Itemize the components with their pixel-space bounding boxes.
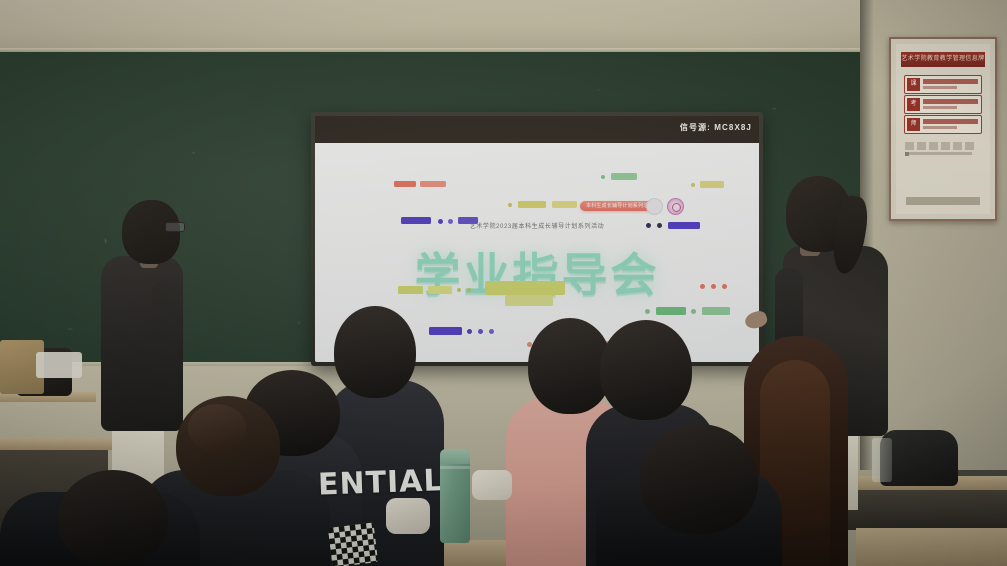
decor-dot-coral: [700, 284, 705, 289]
poster-row-tag: 师: [907, 118, 920, 131]
poster-row-subbar: [923, 86, 957, 89]
poster-row: 师: [904, 115, 982, 134]
poster-row-bar: [923, 79, 978, 84]
student-head: [640, 424, 758, 534]
poster-note-line: [905, 152, 972, 155]
poster-note-bullet: [905, 152, 909, 156]
decor-dot-green: [645, 309, 650, 314]
decor-block-green: [702, 307, 730, 315]
decor-dot-blue: [467, 329, 472, 334]
decor-block-green: [656, 307, 686, 315]
decor-dot-olive: [457, 288, 461, 292]
stamp-icon: [667, 198, 684, 215]
decor-block-yellow: [518, 201, 546, 208]
decor-block-olive: [428, 286, 452, 294]
decor-dot-blue: [489, 329, 494, 334]
decor-block-olive: [398, 286, 423, 294]
decor-block-coral: [394, 181, 416, 187]
poster-row: 考: [904, 95, 982, 114]
poster-row-tag: 课: [907, 78, 920, 91]
desk-right-front: [856, 528, 1007, 566]
wall-poster: 艺术学院教育教学管理信息牌 课 考 师: [889, 37, 997, 221]
drinking-cup: [872, 438, 892, 482]
poster-row: 课: [904, 75, 982, 94]
decor-dot-coral: [711, 284, 716, 289]
student-head: [600, 320, 692, 420]
decor-dot-coral: [722, 284, 727, 289]
decor-dot-yellow: [691, 183, 695, 187]
desk-right-frame: [836, 490, 1007, 530]
decor-block-green: [611, 173, 637, 180]
thermos-ring: [440, 466, 470, 469]
student-head: [58, 470, 168, 566]
papers-on-desk: [36, 352, 82, 378]
decor-dot-blue: [478, 329, 483, 334]
checkered-pattern: [328, 522, 379, 566]
poster-footer: [906, 197, 980, 205]
desk-left: [0, 438, 118, 450]
poster-row-bar: [923, 119, 978, 124]
poster-row-subbar: [923, 106, 957, 109]
seal-icon: [646, 198, 663, 215]
decor-dot-green: [601, 175, 605, 179]
decor-dot-olive: [467, 288, 471, 292]
decor-bar-olive: [485, 281, 565, 295]
decor-block-yellow: [700, 181, 724, 188]
decor-dot-yellow: [508, 203, 512, 207]
decor-block-coral: [420, 181, 446, 187]
presenter-left-arm: [152, 280, 178, 420]
decor-bar-olive-small: [505, 295, 553, 306]
poster-column-marks: [905, 137, 981, 146]
thermos-cap: [440, 449, 470, 464]
decor-dot-green: [691, 309, 696, 314]
poster-body: 艺术学院教育教学管理信息牌 课 考 师: [896, 44, 990, 214]
signal-source-watermark: 信号源: MC8X8J: [680, 122, 752, 133]
upper-wall: [0, 0, 1007, 52]
classroom-photo-scene: 艺术学院教育教学管理信息牌 课 考 师: [0, 0, 1007, 566]
presenter-left-hair: [122, 200, 180, 264]
slide-subtitle: 艺术学院2023届本科生成长辅导计划系列活动: [315, 221, 759, 230]
crumpled-paper: [472, 470, 512, 500]
student-head: [334, 306, 416, 398]
poster-row-subbar: [923, 126, 957, 129]
decor-block-blue: [429, 327, 462, 335]
eyeglasses-icon: [165, 222, 185, 232]
poster-row-bar: [923, 99, 978, 104]
poster-row-tag: 考: [907, 98, 920, 111]
decor-block-yellow: [552, 201, 577, 208]
poster-title: 艺术学院教育教学管理信息牌: [901, 52, 985, 67]
hair-bun: [188, 404, 246, 452]
paper-bag: [386, 498, 430, 534]
